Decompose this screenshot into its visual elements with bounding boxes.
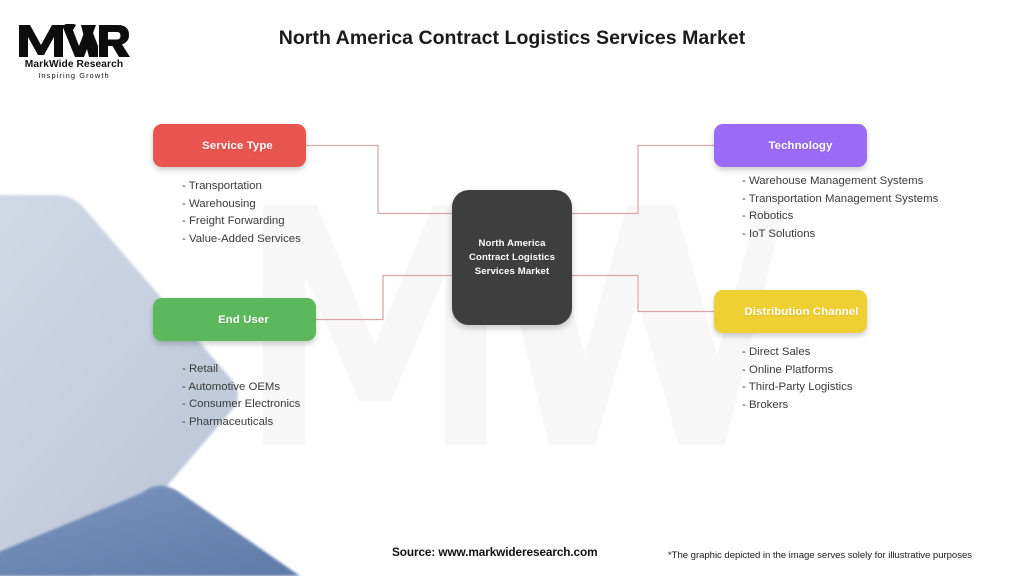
branch-service-type-label: Service Type: [186, 140, 273, 152]
list-item: - Transportation Management Systems: [742, 191, 938, 209]
branch-distribution-channel-label: Distribution Channel: [722, 306, 858, 318]
list-item: - Online Platforms: [742, 362, 853, 380]
branch-service-type-items: - Transportation - Warehousing - Freight…: [182, 178, 301, 248]
center-node-line-1: North America: [469, 237, 555, 251]
branch-technology-label: Technology: [748, 140, 832, 152]
list-item: - Automotive OEMs: [182, 379, 300, 397]
branch-distribution-channel[interactable]: Distribution Channel: [714, 290, 867, 333]
branch-end-user-label: End User: [200, 314, 269, 326]
branch-technology[interactable]: Technology: [714, 124, 867, 167]
infographic-canvas: MarkWide Research Inspiring Growth North…: [0, 0, 1024, 576]
source-label: Source: www.markwideresearch.com: [392, 545, 598, 559]
connector-distribution-channel: [572, 276, 714, 312]
list-item: - Robotics: [742, 208, 938, 226]
center-node-line-2: Contract Logistics: [469, 251, 555, 265]
list-item: - Retail: [182, 361, 300, 379]
branch-technology-items: - Warehouse Management Systems - Transpo…: [742, 173, 938, 243]
list-item: - IoT Solutions: [742, 226, 938, 244]
list-item: - Warehousing: [182, 196, 301, 214]
center-node-label: North America Contract Logistics Service…: [469, 237, 555, 279]
disclaimer-text: *The graphic depicted in the image serve…: [668, 550, 972, 561]
list-item: - Brokers: [742, 397, 853, 415]
list-item: - Pharmaceuticals: [182, 414, 300, 432]
connector-service-type: [306, 146, 452, 214]
connector-end-user: [316, 276, 452, 320]
list-item: - Consumer Electronics: [182, 396, 300, 414]
connector-technology: [572, 146, 714, 214]
center-node-line-3: Services Market: [469, 265, 555, 279]
branch-service-type[interactable]: Service Type: [153, 124, 306, 167]
list-item: - Direct Sales: [742, 344, 853, 362]
list-item: - Value-Added Services: [182, 231, 301, 249]
branch-distribution-channel-items: - Direct Sales - Online Platforms - Thir…: [742, 344, 853, 414]
center-node[interactable]: North America Contract Logistics Service…: [452, 190, 572, 325]
branch-end-user[interactable]: End User: [153, 298, 316, 341]
branch-end-user-items: - Retail - Automotive OEMs - Consumer El…: [182, 361, 300, 431]
list-item: - Third-Party Logistics: [742, 379, 853, 397]
list-item: - Freight Forwarding: [182, 213, 301, 231]
list-item: - Warehouse Management Systems: [742, 173, 938, 191]
list-item: - Transportation: [182, 178, 301, 196]
